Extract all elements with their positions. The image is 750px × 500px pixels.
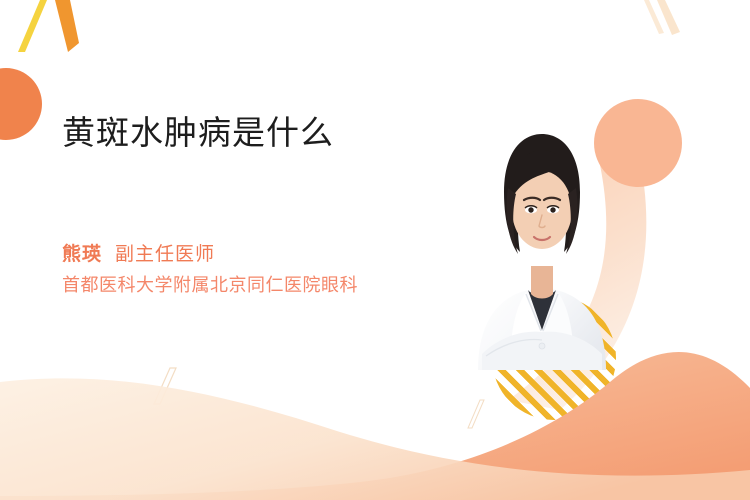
doctor-name: 熊瑛 <box>62 243 102 265</box>
doctor-identity: 熊瑛副主任医师 <box>62 240 462 268</box>
wave-salmon <box>0 352 750 500</box>
diagonal-stripes-top-left <box>18 0 79 52</box>
doctor-portrait <box>452 118 632 370</box>
page-title: 黄斑水肿病是什么 <box>62 110 462 156</box>
diagonal-stripes-top-right <box>644 0 680 35</box>
wave-light <box>0 378 750 500</box>
doctor-info-card: 黄斑水肿病是什么 熊瑛副主任医师 首都医科大学附属北京同仁医院眼科 <box>0 0 750 500</box>
doctor-affiliation: 首都医科大学附属北京同仁医院眼科 <box>62 273 382 298</box>
text-block: 黄斑水肿病是什么 熊瑛副主任医师 首都医科大学附属北京同仁医院眼科 <box>62 110 462 298</box>
doctor-title: 副主任医师 <box>115 243 215 265</box>
orange-circle-left <box>0 68 42 140</box>
doctor-meta: 熊瑛副主任医师 首都医科大学附属北京同仁医院眼科 <box>62 240 462 298</box>
faint-outline-stripe <box>154 368 484 428</box>
